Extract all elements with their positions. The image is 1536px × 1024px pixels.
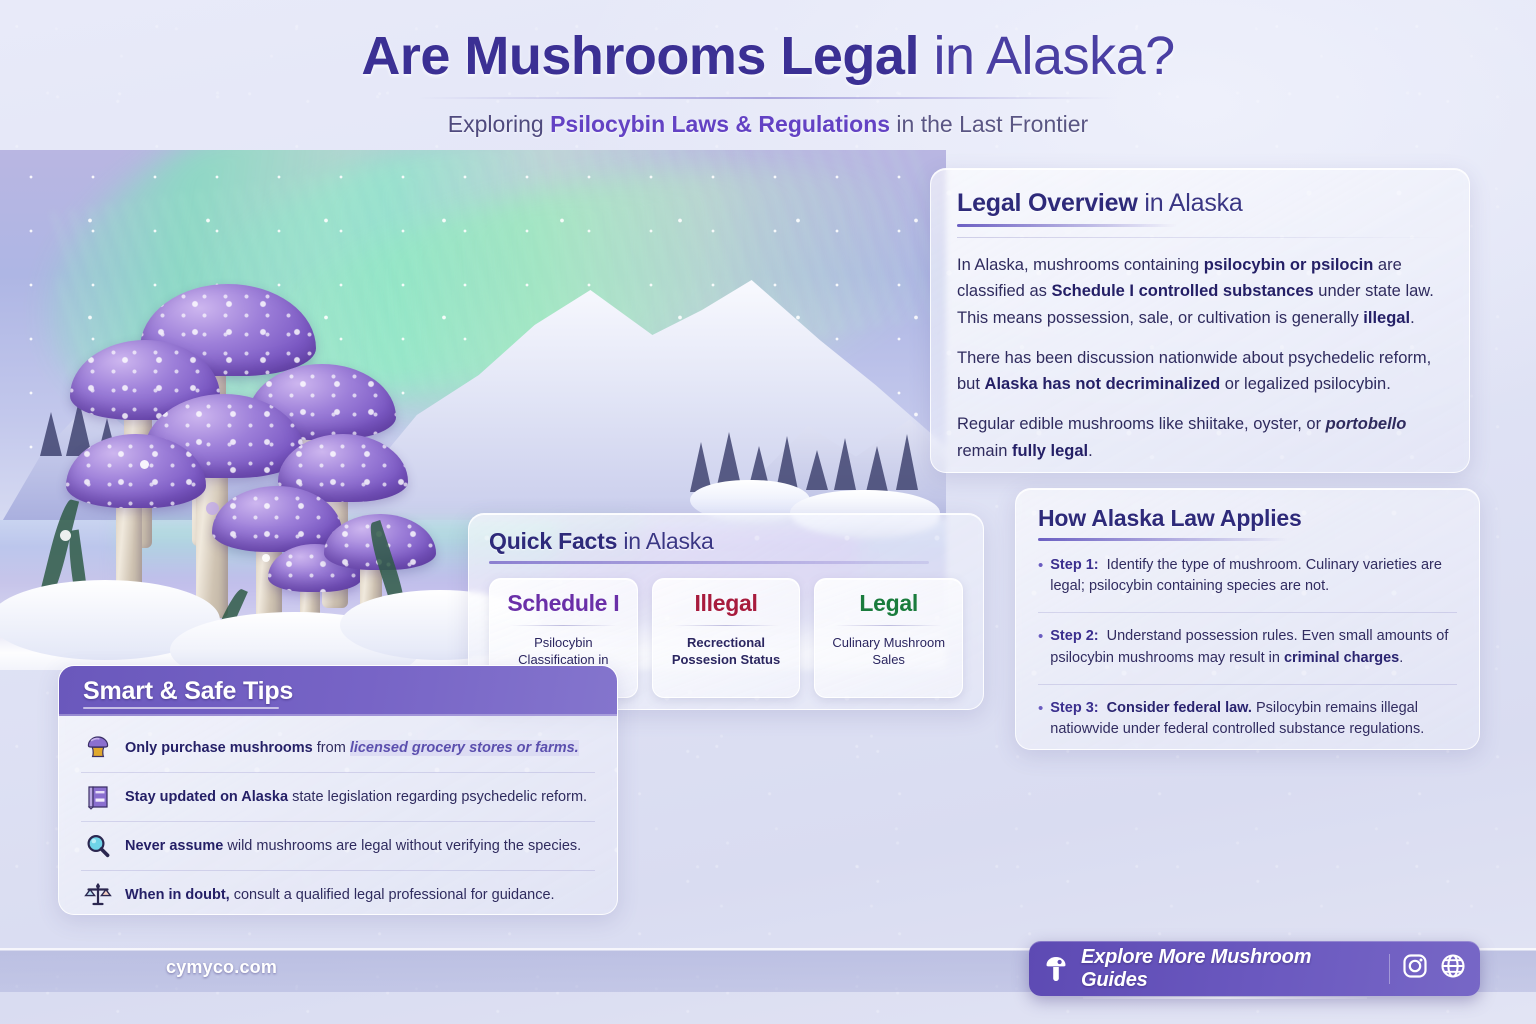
quick-fact-value: Schedule I — [498, 590, 629, 617]
magnifier-icon — [83, 831, 113, 861]
explore-more-cta-label: Explore More Mushroom Guides — [1081, 946, 1377, 992]
snowflake-2 — [206, 502, 219, 515]
page-subtitle: Exploring Psilocybin Laws & Regulations … — [0, 111, 1536, 138]
cta-divider — [1389, 954, 1391, 984]
quick-facts-title: Quick Facts in Alaska — [489, 528, 963, 555]
mushroom-icon — [1043, 954, 1069, 984]
legal-overview-paragraph: There has been discussion nationwide abo… — [957, 345, 1443, 398]
law-step-text: Step 1: Identify the type of mushroom. C… — [1050, 555, 1457, 599]
smart-safe-tips-title: Smart & Safe Tips — [83, 677, 293, 706]
infographic-canvas: Are Mushrooms Legal in Alaska? Exploring… — [0, 0, 1536, 1024]
instagram-icon[interactable] — [1402, 953, 1428, 984]
smart-safe-tips-title-underline — [83, 707, 279, 709]
law-step-text: Step 3: Consider federal law. Psilocybin… — [1050, 698, 1457, 742]
smart-safe-tips-header: Smart & Safe Tips — [59, 666, 617, 716]
subtitle-suffix: in the Last Frontier — [890, 111, 1088, 137]
law-step-text: Step 2: Understand possession rules. Eve… — [1050, 626, 1457, 670]
legal-overview-title: Legal Overview in Alaska — [957, 189, 1443, 218]
subtitle-prefix: Exploring — [448, 111, 550, 137]
tip-text: Only purchase mushrooms from licensed gr… — [125, 740, 579, 756]
law-step-label: Step 2: — [1050, 628, 1098, 644]
tip-text: Never assume wild mushrooms are legal wi… — [125, 838, 581, 854]
quick-facts-title-underline — [489, 561, 929, 564]
how-law-applies-title-underline — [1038, 538, 1288, 541]
tip-item: Stay updated on Alaska state legislation… — [81, 772, 595, 821]
explore-more-cta[interactable]: Explore More Mushroom Guides — [1029, 941, 1480, 996]
legal-overview-paragraph: Regular edible mushrooms like shiitake, … — [957, 411, 1443, 464]
bullet-icon: • — [1038, 626, 1043, 670]
page-header: Are Mushrooms Legal in Alaska? Exploring… — [0, 28, 1536, 138]
snowflake-3 — [262, 554, 270, 562]
quick-fact-label: Recrectional Possesion Status — [661, 634, 792, 668]
legal-overview-divider — [957, 237, 1443, 238]
how-law-applies-steps: •Step 1: Identify the type of mushroom. … — [1038, 555, 1457, 742]
quick-fact-value: Legal — [823, 590, 954, 617]
legal-overview-body: In Alaska, mushrooms containing psilocyb… — [957, 252, 1443, 465]
snowflake-1 — [140, 460, 149, 469]
globe-icon[interactable] — [1440, 953, 1466, 984]
tip-text: When in doubt, consult a qualified legal… — [125, 887, 555, 903]
social-links[interactable] — [1402, 953, 1466, 984]
smart-safe-tips-list: Only purchase mushrooms from licensed gr… — [59, 716, 617, 915]
tip-item: Only purchase mushrooms from licensed gr… — [81, 724, 595, 772]
law-step-item: •Step 2: Understand possession rules. Ev… — [1038, 612, 1457, 670]
mushroom-icon — [83, 733, 113, 763]
subtitle-highlight: Psilocybin Laws & Regulations — [550, 111, 890, 137]
quick-fact-divider — [673, 625, 780, 627]
scales-icon — [83, 880, 113, 910]
quick-fact-value: Illegal — [661, 590, 792, 617]
quick-fact-card: IllegalRecrectional Possesion Status — [652, 578, 801, 699]
law-step-item: •Step 3: Consider federal law. Psilocybi… — [1038, 684, 1457, 742]
legal-overview-title-underline — [957, 224, 1177, 227]
law-step-item: •Step 1: Identify the type of mushroom. … — [1038, 555, 1457, 599]
quick-fact-label: Culinary Mushroom Sales — [823, 634, 954, 668]
quick-facts-title-bold: Quick Facts — [489, 528, 617, 554]
legal-overview-title-light: in Alaska — [1138, 189, 1243, 217]
law-step-label: Step 3: — [1050, 700, 1098, 716]
page-title: Are Mushrooms Legal in Alaska? — [0, 28, 1536, 85]
tip-text: Stay updated on Alaska state legislation… — [125, 789, 587, 805]
book-icon — [83, 782, 113, 812]
bullet-icon: • — [1038, 555, 1043, 599]
quick-facts-title-light: in Alaska — [617, 528, 713, 554]
how-law-applies-panel: How Alaska Law Applies •Step 1: Identify… — [1015, 488, 1480, 750]
page-title-tail: in Alaska? — [933, 26, 1174, 86]
how-law-applies-title: How Alaska Law Applies — [1038, 505, 1457, 532]
title-divider — [418, 97, 1118, 99]
site-brand: cymyco.com — [166, 957, 277, 978]
smart-safe-tips-panel: Smart & Safe Tips Only purchase mushroom… — [58, 665, 618, 915]
legal-overview-paragraph: In Alaska, mushrooms containing psilocyb… — [957, 252, 1443, 332]
snowflake-4 — [60, 530, 71, 541]
quick-fact-divider — [835, 625, 942, 627]
quick-fact-card: LegalCulinary Mushroom Sales — [814, 578, 963, 699]
bullet-icon: • — [1038, 698, 1043, 742]
tip-item: Never assume wild mushrooms are legal wi… — [81, 821, 595, 870]
tip-item: When in doubt, consult a qualified legal… — [81, 870, 595, 915]
page-title-main: Are Mushrooms Legal — [361, 26, 919, 86]
quick-fact-divider — [510, 625, 617, 627]
legal-overview-panel: Legal Overview in Alaska In Alaska, mush… — [930, 168, 1470, 473]
law-step-label: Step 1: — [1050, 557, 1098, 573]
legal-overview-title-bold: Legal Overview — [957, 189, 1138, 217]
